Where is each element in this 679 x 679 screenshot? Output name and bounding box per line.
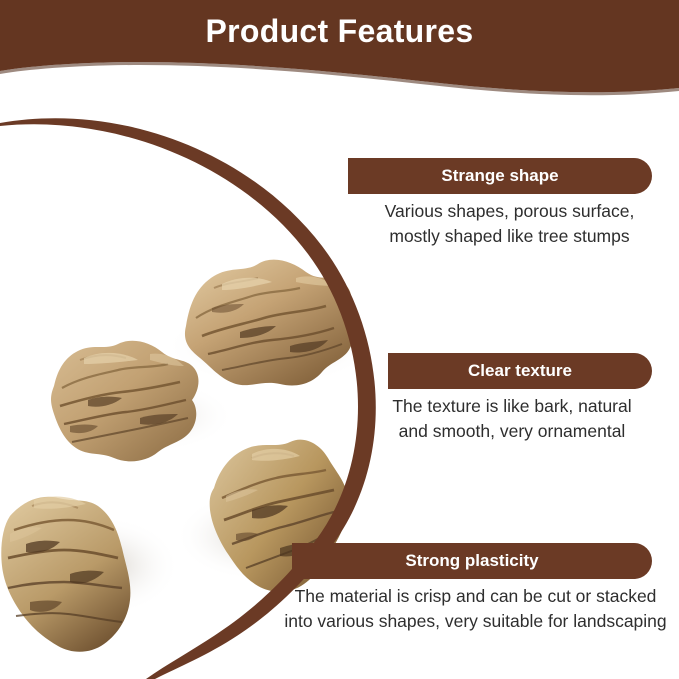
page-title: Product Features [0,11,679,51]
feature-label-strange-shape: Strange shape [348,158,652,194]
feature-description-strong-plasticity: The material is crisp and can be cut or … [272,584,679,634]
product-features-infographic: Product Features [0,0,679,679]
header-banner: Product Features [0,0,679,100]
feature-label-strong-plasticity: Strong plasticity [292,543,652,579]
feature-label-clear-texture: Clear texture [388,353,652,389]
feature-description-strange-shape: Various shapes, porous surface, mostly s… [340,199,679,249]
feature-description-clear-texture: The texture is like bark, natural and sm… [345,394,679,444]
